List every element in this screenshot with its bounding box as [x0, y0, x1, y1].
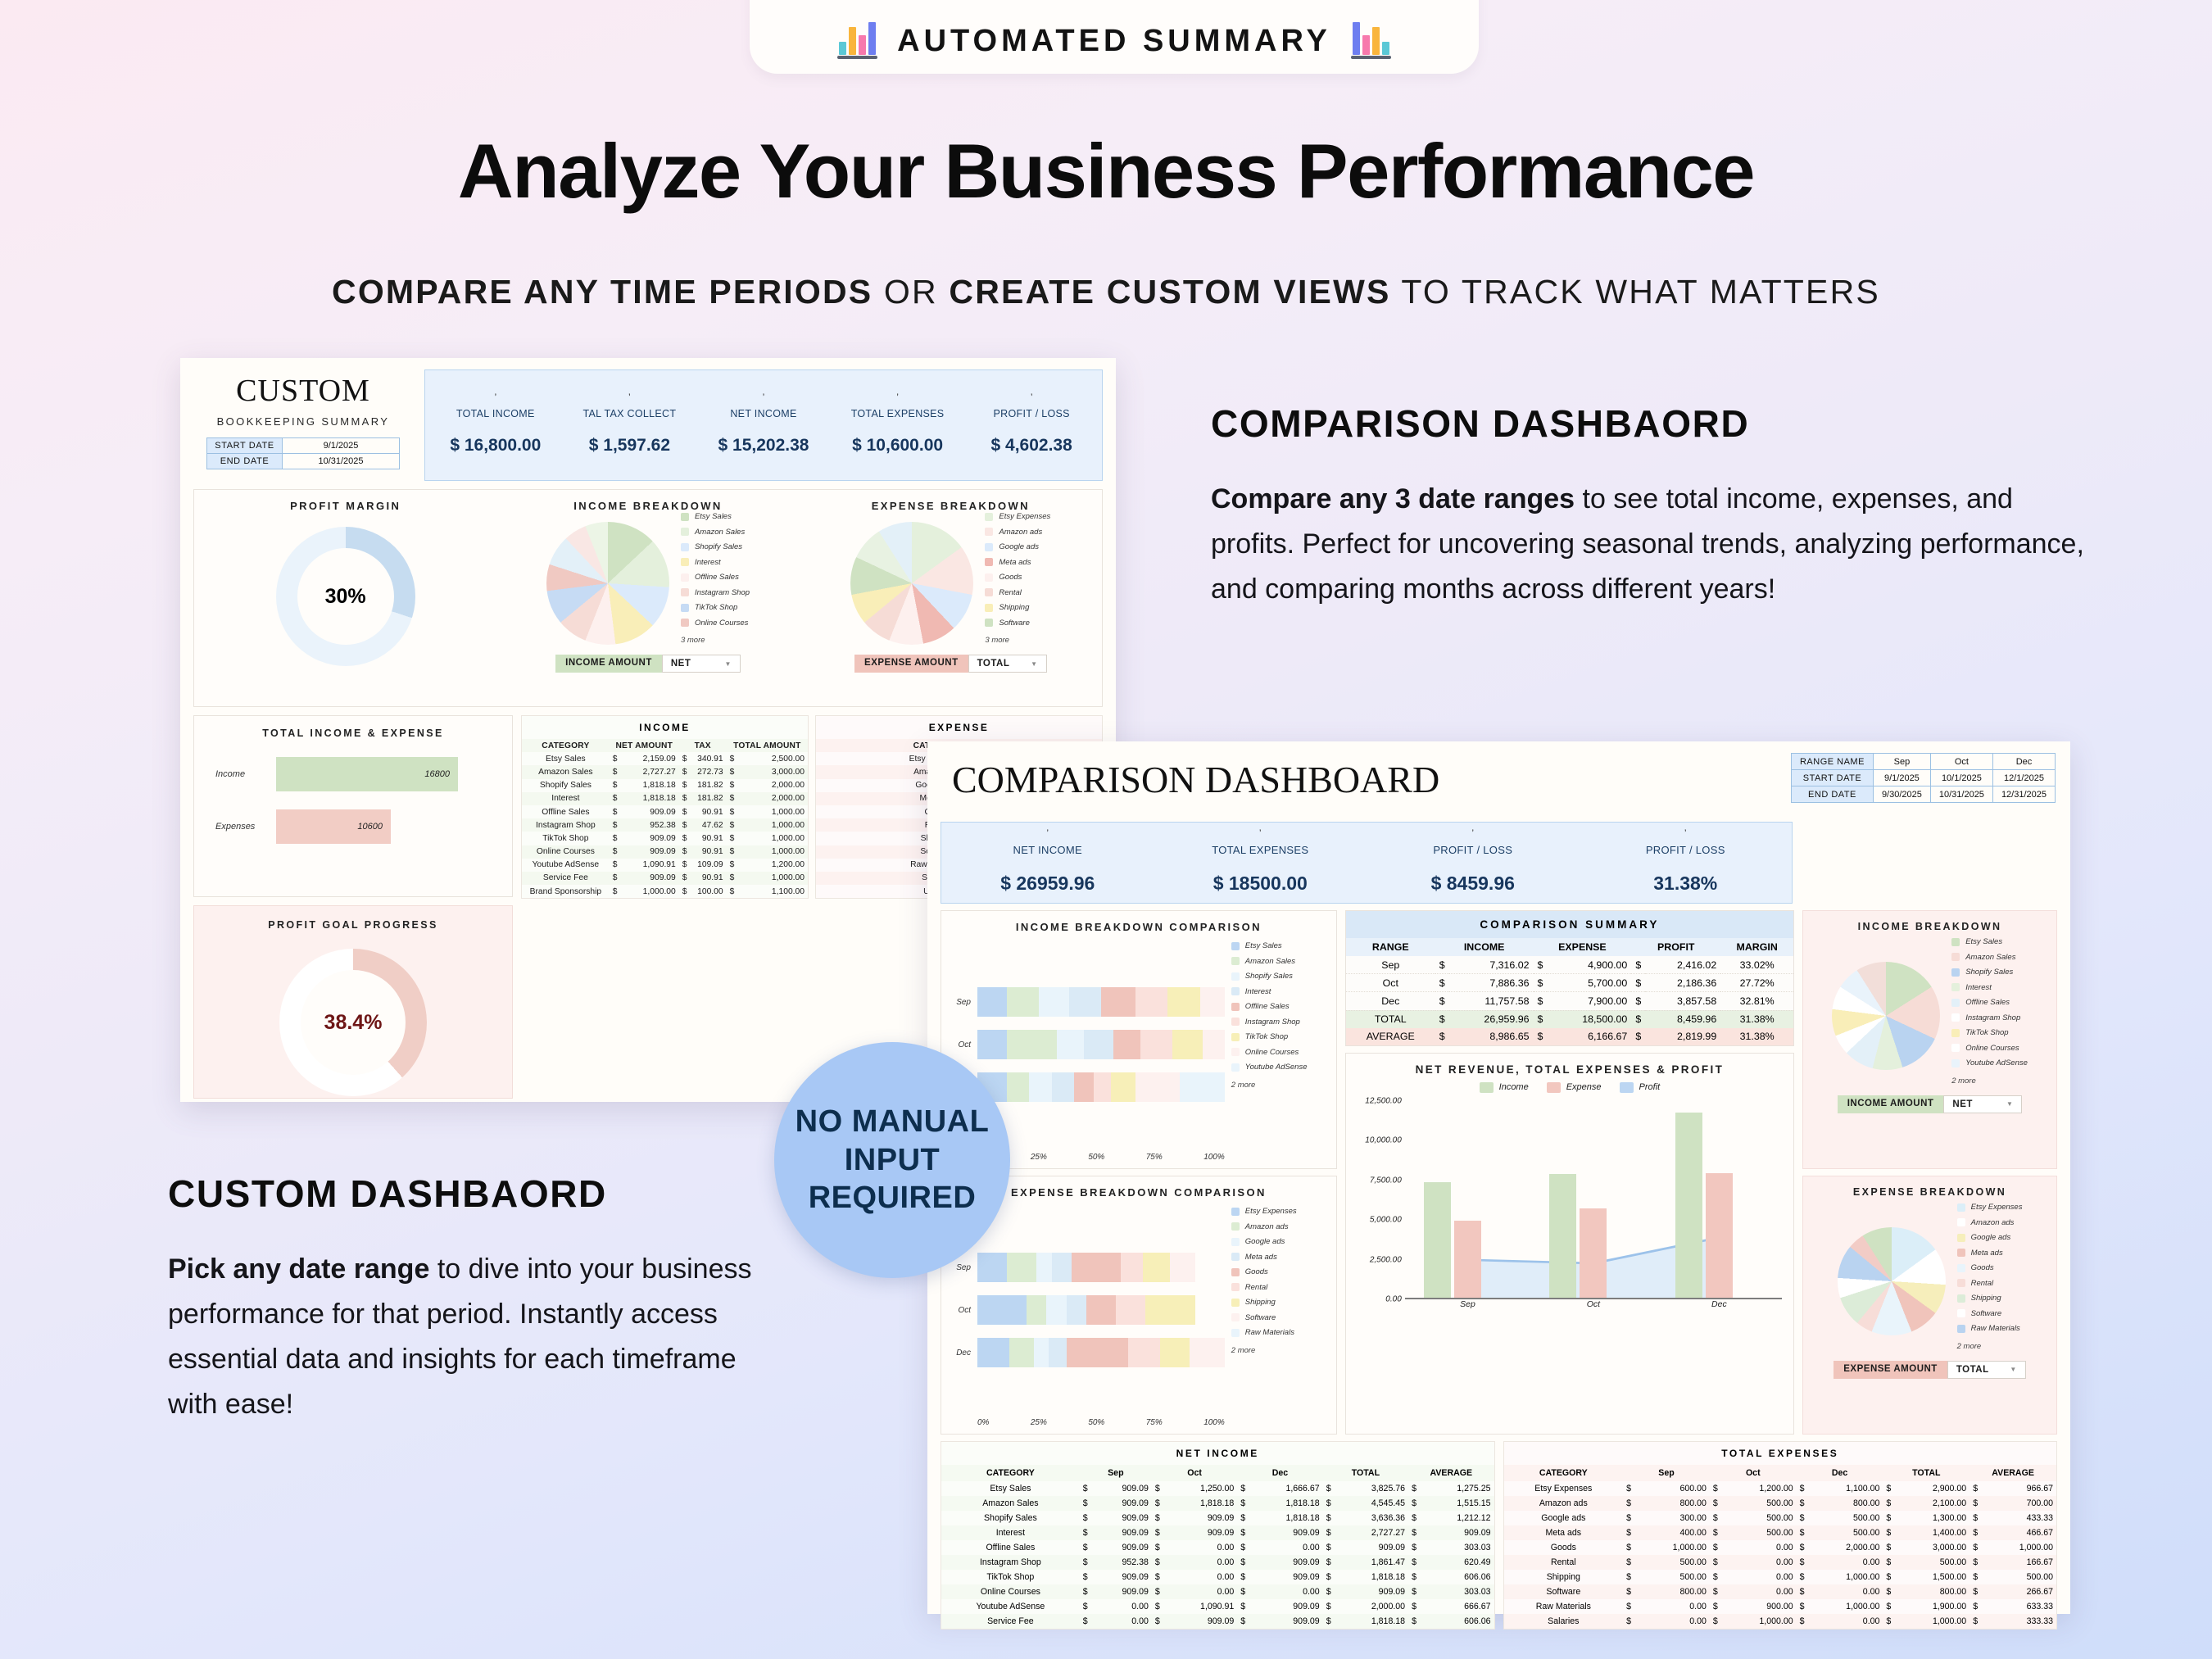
column-header: TOTAL: [1323, 1465, 1408, 1481]
cell-amount: 7,316.02: [1449, 956, 1534, 974]
table-row: Online Courses$909.09$0.00$0.00$909.09$3…: [941, 1584, 1494, 1599]
cell-amount: 909.09: [1163, 1614, 1237, 1629]
currency-symbol: $: [1710, 1614, 1721, 1629]
range-end-value[interactable]: 10/31/2025: [1930, 786, 1992, 803]
currency-symbol: $: [1323, 1599, 1335, 1614]
table-row: Oct$7,886.36$5,700.00$2,186.3627.72%: [1346, 974, 1793, 992]
currency-symbol: $: [1237, 1584, 1249, 1599]
legend-item: TikTok Shop: [1231, 1032, 1328, 1041]
hbar-segment: [1074, 1072, 1094, 1102]
currency-symbol: $: [1969, 1599, 1981, 1614]
start-date-label: START DATE: [207, 438, 283, 454]
cell-range: AVERAGE: [1346, 1028, 1435, 1045]
currency-symbol: $: [1408, 1511, 1420, 1525]
currency-symbol: $: [1883, 1584, 1894, 1599]
kpi-value: $ 15,202.38: [696, 436, 831, 456]
legend-swatch: [1231, 1283, 1240, 1291]
kpi-tick-icon: ’: [428, 395, 563, 400]
legend-swatch: [1231, 1003, 1240, 1011]
kpi-tick-icon: ’: [964, 395, 1099, 400]
range-name-value[interactable]: Oct: [1930, 754, 1992, 770]
legend-item: Software: [1231, 1313, 1328, 1322]
legend-swatch: [1957, 1325, 1965, 1333]
cell-category: Offline Sales: [522, 805, 610, 818]
profit-goal-card: PROFIT GOAL PROGRESS 38.4%: [193, 905, 513, 1099]
comparison-copy-block: COMPARISON DASHBAORD Compare any 3 date …: [1211, 401, 2087, 612]
currency-symbol: $: [727, 752, 738, 765]
cell-amount: 0.00: [1808, 1584, 1883, 1599]
legend-item: Online Courses: [1231, 1048, 1328, 1057]
cm-income-breakdown-pie: [1832, 962, 1940, 1070]
cell-category: Youtube AdSense: [522, 859, 610, 872]
table-row: Offline Sales$909.09$0.00$0.00$909.09$30…: [941, 1540, 1494, 1555]
sticker-line-2: INPUT: [845, 1141, 941, 1179]
range-start-value[interactable]: 10/1/2025: [1930, 770, 1992, 786]
legend-item: Income: [1480, 1082, 1529, 1093]
range-start-value[interactable]: 9/1/2025: [1873, 770, 1930, 786]
legend-item: Interest: [681, 558, 750, 567]
currency-symbol: $: [679, 872, 691, 885]
column-header: Sep: [1623, 1465, 1710, 1481]
cell-amount: 1,818.18: [1249, 1496, 1322, 1511]
legend-item: Meta ads: [1231, 1253, 1328, 1262]
total-income-expense-card: TOTAL INCOME & EXPENSE Income 16800 Expe…: [193, 715, 513, 897]
currency-symbol: $: [1152, 1511, 1163, 1525]
legend-label: Google ads: [999, 542, 1039, 551]
cell-amount: 2,159.09: [621, 752, 679, 765]
legend-item: Offline Sales: [1231, 1002, 1328, 1011]
income-comparison-legend: Etsy SalesAmazon SalesShopify SalesInter…: [1231, 941, 1328, 1162]
expense-amount-select[interactable]: TOTAL ▼: [968, 655, 1047, 673]
income-breakdown-legend: Etsy SalesAmazon SalesShopify SalesInter…: [681, 512, 750, 645]
hbar-segment: [1034, 1338, 1049, 1367]
custom-logo-subtitle: BOOKKEEPING SUMMARY: [193, 415, 413, 428]
legend-swatch: [1231, 1063, 1240, 1072]
cell-amount: 2,819.99: [1645, 1028, 1720, 1045]
legend-label: Software: [999, 619, 1030, 628]
comparison-main-row: INCOME BREAKDOWN COMPARISON SepOctDec 0%…: [941, 910, 2057, 1435]
currency-symbol: $: [1152, 1525, 1163, 1540]
custom-income-table-wrap: INCOME CATEGORYNET AMOUNTTAXTOTAL AMOUNT…: [521, 715, 809, 899]
column-header: CATEGORY: [522, 739, 610, 752]
legend-item: Offline Sales: [1951, 998, 2028, 1007]
cm-income-amount-select[interactable]: NET ▼: [1943, 1095, 2022, 1113]
table-row: END DATE 10/31/2025: [207, 454, 400, 469]
cell-amount: 500.00: [1634, 1555, 1710, 1570]
cm-income-amount-label: INCOME AMOUNT: [1838, 1095, 1944, 1113]
legend-swatch: [1951, 953, 1960, 961]
cell-amount: 1,212.12: [1420, 1511, 1494, 1525]
currency-symbol: $: [1237, 1540, 1249, 1555]
no-manual-input-sticker: NO MANUAL INPUT REQUIRED: [774, 1042, 1010, 1278]
legend-swatch: [1951, 1044, 1960, 1052]
table-row: Dec$11,757.58$7,900.00$3,857.5832.81%: [1346, 992, 1793, 1010]
currency-symbol: $: [1623, 1584, 1634, 1599]
hbar-segment: [977, 987, 1007, 1017]
bar-group: [1405, 1101, 1530, 1298]
currency-symbol: $: [1623, 1614, 1634, 1629]
income-bar: 16800: [276, 757, 458, 791]
legend-swatch: [1231, 1253, 1240, 1261]
cell-category: Brand Sponsorship: [522, 885, 610, 898]
income-amount-select[interactable]: NET ▼: [662, 655, 741, 673]
cell-amount: 166.67: [1981, 1555, 2056, 1570]
income-breakdown-title: INCOME BREAKDOWN: [573, 500, 722, 512]
profit-goal-title: PROFIT GOAL PROGRESS: [268, 919, 438, 931]
cell-margin: 31.38%: [1720, 1028, 1793, 1045]
cell-amount: 1,818.18: [621, 792, 679, 805]
legend-item: Instagram Shop: [1951, 1013, 2028, 1022]
cell-amount: 600.00: [1634, 1481, 1710, 1496]
legend-label: Instagram Shop: [695, 588, 750, 597]
table-row: Youtube AdSense$0.00$1,090.91$909.09$2,0…: [941, 1599, 1494, 1614]
bar-group: [1530, 1101, 1656, 1298]
hbar-segment: [1029, 1072, 1051, 1102]
legend-swatch: [1231, 1238, 1240, 1246]
legend-item: Goods: [985, 573, 1050, 582]
comparison-income-breakdown-card: INCOME BREAKDOWN Etsy SalesAmazon SalesS…: [1802, 910, 2057, 1169]
bar: [1549, 1174, 1576, 1298]
hbar-segment: [1180, 1072, 1224, 1102]
currency-symbol: $: [727, 779, 738, 792]
cell-range: Oct: [1346, 974, 1435, 992]
chevron-down-icon: ▼: [2010, 1366, 2016, 1373]
cell-amount: 1,300.00: [1894, 1511, 1969, 1525]
axis-tick: Sep: [1405, 1299, 1530, 1316]
cell-category: Shipping: [1504, 1570, 1624, 1584]
legend-item: Amazon Sales: [1231, 957, 1328, 966]
kpi-card: ’PROFIT / LOSS$ 8459.96: [1367, 831, 1580, 895]
cell-amount: 952.38: [1091, 1555, 1152, 1570]
table-row: Raw Materials$0.00$900.00$1,000.00$1,900…: [1504, 1599, 2057, 1614]
currency-symbol: $: [1631, 1028, 1645, 1045]
cell-amount: 0.00: [1091, 1599, 1152, 1614]
cell-amount: 7,900.00: [1547, 992, 1631, 1010]
hbar-segment: [1135, 987, 1167, 1017]
currency-symbol: $: [1237, 1525, 1249, 1540]
range-name-value[interactable]: Dec: [1992, 754, 2055, 770]
currency-symbol: $: [1435, 956, 1449, 974]
cm-income-amount-dropdown[interactable]: INCOME AMOUNT NET ▼: [1838, 1095, 2023, 1113]
axis-tick: 10,000.00: [1365, 1136, 1402, 1145]
bar: [1424, 1182, 1451, 1297]
comparison-expense-breakdown-card: EXPENSE BREAKDOWN Etsy ExpensesAmazon ad…: [1802, 1176, 2057, 1435]
sticker-line-1: NO MANUAL: [796, 1103, 990, 1140]
cell-amount: 0.00: [1163, 1540, 1237, 1555]
net-revenue-yaxis: 0.002,500.005,000.007,500.0010,000.0012,…: [1354, 1101, 1405, 1299]
hbar-segment: [1049, 1338, 1066, 1367]
axis-tick: 0%: [977, 1418, 989, 1427]
currency-symbol: $: [1710, 1570, 1721, 1584]
chevron-down-icon: ▼: [724, 660, 731, 668]
hbar-segment: [1113, 1030, 1140, 1059]
hbar-segment: [1027, 1295, 1046, 1325]
legend-label: Expense: [1566, 1082, 1602, 1092]
end-date-input[interactable]: 10/31/2025: [283, 454, 400, 469]
chevron-down-icon: ▼: [1031, 660, 1037, 668]
currency-symbol: $: [1969, 1496, 1981, 1511]
income-amount-value: NET: [671, 659, 691, 669]
cm-expense-breakdown-title: EXPENSE BREAKDOWN: [1853, 1186, 2006, 1198]
legend-item: Amazon ads: [985, 528, 1050, 537]
table-row-average: AVERAGE$8,986.65$6,166.67$2,819.9931.38%: [1346, 1028, 1793, 1045]
custom-expense-breakdown-card: EXPENSE BREAKDOWN Etsy ExpensesAmazon ad…: [800, 490, 1102, 706]
income-bar-label: Income: [215, 769, 276, 779]
legend-label: Meta ads: [999, 558, 1031, 567]
legend-item: Online Courses: [1951, 1044, 2028, 1053]
legend-item: Software: [1957, 1309, 2023, 1318]
cell-amount: 909.09: [1335, 1540, 1408, 1555]
income-comparison-body: SepOctDec 0%25%50%75%100% Etsy SalesAmaz…: [950, 941, 1328, 1162]
sticker-line-3: REQUIRED: [809, 1179, 977, 1217]
legend-item: Etsy Sales: [681, 512, 750, 521]
currency-symbol: $: [1323, 1584, 1335, 1599]
currency-symbol: $: [1080, 1525, 1091, 1540]
hbar-segment: [1067, 1338, 1128, 1367]
cell-amount: 0.00: [1249, 1540, 1322, 1555]
range-name-value[interactable]: Sep: [1873, 754, 1930, 770]
table-row: RANGE NAMESepOctDec: [1791, 754, 2055, 770]
legend-item: Etsy Sales: [1951, 937, 2028, 946]
legend-swatch: [985, 543, 993, 551]
legend-swatch: [1231, 1299, 1240, 1307]
column-header: CATEGORY: [941, 1465, 1080, 1481]
cell-amount: 900.00: [1721, 1599, 1797, 1614]
legend-label: Offline Sales: [1245, 1002, 1290, 1011]
axis-tick: 2,500.00: [1370, 1255, 1402, 1264]
legend-item: Raw Materials: [1957, 1324, 2023, 1333]
cell-amount: 909.09: [1091, 1570, 1152, 1584]
table-row: Shipping$500.00$0.00$1,000.00$1,500.00$5…: [1504, 1570, 2057, 1584]
cell-range: Dec: [1346, 992, 1435, 1010]
cell-amount: 1,515.15: [1420, 1496, 1494, 1511]
legend-swatch: [1231, 957, 1240, 965]
income-amount-label: INCOME AMOUNT: [555, 655, 662, 673]
currency-symbol: $: [1080, 1540, 1091, 1555]
cell-amount: 8,986.65: [1449, 1028, 1534, 1045]
cell-category: Shopify Sales: [522, 779, 610, 792]
currency-symbol: $: [1152, 1496, 1163, 1511]
comparison-summary-table: COMPARISON SUMMARY RANGEINCOMEEXPENSEPRO…: [1346, 911, 1793, 1045]
cm-expense-amount-select[interactable]: TOTAL ▼: [1947, 1361, 2026, 1379]
cell-amount: 909.09: [621, 872, 679, 885]
cell-amount: 909.09: [621, 805, 679, 818]
kpi-card: ’NET INCOME$ 26959.96: [941, 831, 1154, 895]
expense-amount-dropdown[interactable]: EXPENSE AMOUNT TOTAL ▼: [854, 655, 1047, 673]
currency-symbol: $: [1710, 1584, 1721, 1599]
cell-amount: 909.09: [621, 845, 679, 859]
cell-amount: 800.00: [1634, 1496, 1710, 1511]
table-row: Interest$909.09$909.09$909.09$2,727.27$9…: [941, 1525, 1494, 1540]
currency-symbol: $: [679, 818, 691, 832]
cell-amount: 909.09: [1249, 1614, 1322, 1629]
legend-swatch: [985, 588, 993, 596]
currency-symbol: $: [1969, 1481, 1981, 1496]
range-start-value[interactable]: 12/1/2025: [1992, 770, 2055, 786]
legend-swatch: [985, 619, 993, 627]
income-comparison-title: INCOME BREAKDOWN COMPARISON: [950, 921, 1328, 933]
column-header: EXPENSE: [1534, 938, 1632, 956]
comparison-summary-card: COMPARISON SUMMARY RANGEINCOMEEXPENSEPRO…: [1345, 910, 1794, 1046]
cell-amount: 606.06: [1420, 1570, 1494, 1584]
cell-amount: 3,857.58: [1645, 992, 1720, 1010]
legend-label: Etsy Expenses: [1971, 1203, 2023, 1212]
table-row: Shopify Sales$1,818.18$181.82$2,000.00: [522, 779, 808, 792]
custom-copy-body: Pick any date range to dive into your bu…: [168, 1247, 791, 1427]
currency-symbol: $: [679, 859, 691, 872]
table-header-row: RANGEINCOMEEXPENSEPROFITMARGIN: [1346, 938, 1793, 956]
hbar-segment: [1057, 1030, 1084, 1059]
legend-label: Raw Materials: [1245, 1328, 1294, 1337]
kpi-card: ’TAL TAX COLLECT$ 1,597.62: [563, 395, 697, 456]
table-row: Amazon Sales$2,727.27$272.73$3,000.00: [522, 765, 808, 778]
range-end-value[interactable]: 12/31/2025: [1992, 786, 2055, 803]
currency-symbol: $: [727, 885, 738, 898]
currency-symbol: $: [1623, 1496, 1634, 1511]
hbar-segment: [1190, 1338, 1224, 1367]
cell-amount: 0.00: [1163, 1584, 1237, 1599]
legend-swatch: [1231, 1018, 1240, 1026]
legend-label: Offline Sales: [1965, 998, 2010, 1007]
cm-expense-amount-dropdown[interactable]: EXPENSE AMOUNT TOTAL ▼: [1834, 1361, 2026, 1379]
custom-brand-block: CUSTOM BOOKKEEPING SUMMARY START DATE 9/…: [193, 369, 413, 481]
income-amount-dropdown[interactable]: INCOME AMOUNT NET ▼: [555, 655, 741, 673]
currency-symbol: $: [1080, 1555, 1091, 1570]
profit-margin-donut: 30%: [276, 527, 415, 666]
income-bar-row: Income 16800: [194, 757, 512, 791]
cell-amount: 909.09: [1249, 1555, 1322, 1570]
hbar-segment: [1200, 987, 1225, 1017]
legend-item: Raw Materials: [1231, 1328, 1328, 1337]
legend-swatch: [1951, 999, 1960, 1007]
cell-amount: 181.82: [691, 779, 727, 792]
legend-label: TikTok Shop: [1245, 1032, 1288, 1041]
hbar-segment: [1172, 1030, 1202, 1059]
cell-amount: 909.09: [1091, 1525, 1152, 1540]
legend-swatch: [1231, 1033, 1240, 1041]
hbar-row-label: Dec: [950, 1349, 971, 1358]
legend-label: Meta ads: [1971, 1249, 2003, 1258]
currency-symbol: $: [1435, 1028, 1449, 1045]
total-expenses-table-wrap: TOTAL EXPENSES CATEGORYSepOctDecTOTALAVE…: [1503, 1441, 2058, 1630]
cell-amount: 2,727.27: [621, 765, 679, 778]
cell-category: Interest: [941, 1525, 1080, 1540]
legend-label: Youtube AdSense: [1965, 1058, 2028, 1067]
cell-amount: 500.00: [1634, 1570, 1710, 1584]
currency-symbol: $: [1534, 974, 1548, 992]
legend-swatch: [681, 573, 689, 582]
cell-amount: 500.00: [1721, 1496, 1797, 1511]
currency-symbol: $: [1969, 1614, 1981, 1629]
kpi-label: NET INCOME: [696, 408, 831, 419]
cell-amount: 0.00: [1249, 1584, 1322, 1599]
range-end-value[interactable]: 9/30/2025: [1873, 786, 1930, 803]
comparison-copy-title: COMPARISON DASHBAORD: [1211, 401, 2087, 446]
cell-amount: 47.62: [691, 818, 727, 832]
hbar-track: [977, 987, 1225, 1017]
legend-item: Shipping: [985, 603, 1050, 612]
currency-symbol: $: [1323, 1511, 1335, 1525]
hbar-track: [977, 1030, 1225, 1059]
cell-amount: 5,700.00: [1547, 974, 1631, 992]
cell-amount: 909.09: [1091, 1481, 1152, 1496]
custom-left-column: TOTAL INCOME & EXPENSE Income 16800 Expe…: [193, 715, 513, 1099]
legend-label: Shopify Sales: [695, 542, 742, 551]
currency-symbol: $: [1408, 1599, 1420, 1614]
hbar-segment: [1046, 1295, 1066, 1325]
cell-range: TOTAL: [1346, 1010, 1435, 1028]
legend-swatch: [1620, 1082, 1634, 1093]
currency-symbol: $: [1797, 1481, 1808, 1496]
currency-symbol: $: [1080, 1614, 1091, 1629]
cell-amount: 7,886.36: [1449, 974, 1534, 992]
cell-amount: 1,818.18: [1163, 1496, 1237, 1511]
legend-item: Amazon Sales: [1951, 953, 2028, 962]
axis-tick: 50%: [1088, 1418, 1104, 1427]
legend-label: Software: [1971, 1309, 2002, 1318]
cell-amount: 500.00: [1721, 1525, 1797, 1540]
cell-margin: 33.02%: [1720, 956, 1793, 974]
currency-symbol: $: [1323, 1614, 1335, 1629]
currency-symbol: $: [1534, 956, 1548, 974]
currency-symbol: $: [1969, 1584, 1981, 1599]
legend-label: Etsy Expenses: [1245, 1207, 1297, 1216]
cell-category: Google ads: [1504, 1511, 1624, 1525]
custom-copy-bold: Pick any date range: [168, 1253, 429, 1285]
page-subtitle: COMPARE ANY TIME PERIODS OR CREATE CUSTO…: [0, 273, 2212, 311]
legend-swatch: [1951, 1013, 1960, 1022]
legend-label: Instagram Shop: [1245, 1018, 1300, 1027]
cell-amount: 966.67: [1981, 1481, 2056, 1496]
income-pie-row: Etsy SalesAmazon SalesShopify SalesInter…: [546, 512, 750, 645]
currency-symbol: $: [1710, 1540, 1721, 1555]
currency-symbol: $: [1969, 1555, 1981, 1570]
legend-label: Online Courses: [695, 619, 748, 628]
legend-swatch: [1957, 1279, 1965, 1287]
cell-amount: 181.82: [691, 792, 727, 805]
legend-item: Youtube AdSense: [1951, 1058, 2028, 1067]
table-row-total: TOTAL$26,959.96$18,500.00$8,459.9631.38%: [1346, 1010, 1793, 1028]
cell-amount: 1,400.00: [1894, 1525, 1969, 1540]
currency-symbol: $: [1323, 1540, 1335, 1555]
cell-margin: 27.72%: [1720, 974, 1793, 992]
currency-symbol: $: [610, 765, 621, 778]
legend-label: Amazon ads: [1971, 1218, 2015, 1227]
currency-symbol: $: [1237, 1481, 1249, 1496]
table-row: Meta ads$400.00$500.00$500.00$1,400.00$4…: [1504, 1525, 2057, 1540]
cell-amount: 800.00: [1634, 1584, 1710, 1599]
legend-swatch: [1231, 972, 1240, 981]
legend-item: Youtube AdSense: [1231, 1063, 1328, 1072]
cell-category: Etsy Sales: [941, 1481, 1080, 1496]
start-date-input[interactable]: 9/1/2025: [283, 438, 400, 454]
hbar-segment: [1072, 1253, 1121, 1282]
legend-swatch: [1231, 1329, 1240, 1337]
income-breakdown-pie: [546, 522, 669, 645]
hbar-segment: [1036, 1253, 1051, 1282]
profit-margin-value: 30%: [276, 527, 415, 666]
hbar-track: [977, 1295, 1225, 1325]
bar-group: [1657, 1101, 1782, 1298]
table-row: Sep$7,316.02$4,900.00$2,416.0233.02%: [1346, 956, 1793, 974]
table-row: Etsy Sales$909.09$1,250.00$1,666.67$3,82…: [941, 1481, 1494, 1496]
custom-logo: CUSTOM: [193, 373, 413, 409]
cell-amount: 620.49: [1420, 1555, 1494, 1570]
currency-symbol: $: [1797, 1555, 1808, 1570]
currency-symbol: $: [1710, 1525, 1721, 1540]
kpi-label: PROFIT / LOSS: [964, 408, 1099, 419]
expense-comparison-card: EXPENSE BREAKDOWN COMPARISON SepOctDec 0…: [941, 1176, 1337, 1435]
